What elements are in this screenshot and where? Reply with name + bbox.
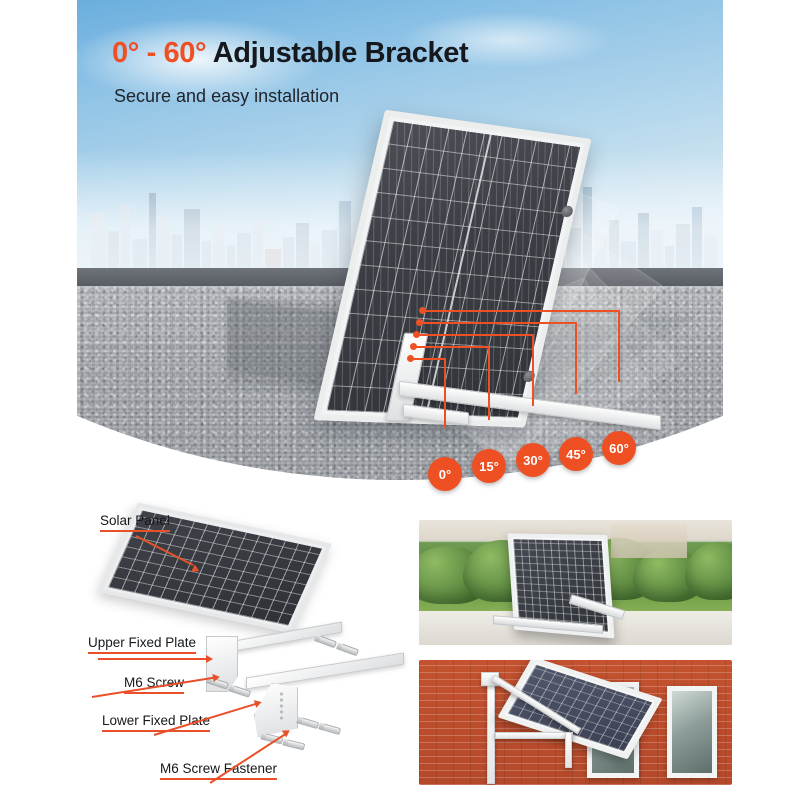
support-rail — [246, 652, 404, 689]
angle-badge-2: 30° — [516, 443, 550, 477]
panel-bolt-top — [560, 205, 574, 218]
wall-mount-vertical-post — [487, 676, 495, 784]
angle-badge-label: 0° — [439, 467, 451, 482]
angle-badge-label: 60° — [609, 441, 629, 456]
wall-mount-support-leg — [565, 732, 572, 768]
hero-image — [77, 0, 723, 500]
screw-8 — [285, 739, 305, 750]
angle-badge-0: 0° — [428, 457, 462, 491]
screw-5 — [299, 717, 319, 729]
angle-badge-1: 15° — [472, 449, 506, 483]
angle-badge-label: 30° — [523, 453, 543, 468]
screw-2 — [339, 643, 359, 656]
window-right — [667, 686, 717, 778]
page-subtitle: Secure and easy installation — [114, 86, 339, 107]
angle-badge-label: 15° — [479, 459, 499, 474]
label-text: M6 Screw Fastener — [160, 761, 277, 776]
page-title: 0° - 60° Adjustable Bracket — [112, 37, 468, 70]
title-accent: 0° - 60° — [112, 37, 206, 69]
label-upper-fixed-plate: Upper Fixed Plate — [88, 635, 196, 654]
label-solar-panel: Solar Panel — [100, 513, 170, 532]
screw-1 — [317, 635, 337, 648]
angle-badge-3: 45° — [559, 437, 593, 471]
exploded-parts-diagram: Solar Panel Upper Fixed Plate M6 Screw L… — [78, 505, 398, 795]
angle-badge-label: 45° — [566, 447, 586, 462]
screw-6 — [321, 723, 341, 735]
hero-photo-clip — [77, 0, 723, 500]
blurred-house — [611, 524, 687, 558]
photo-garden-install — [419, 520, 732, 645]
title-rest: Adjustable Bracket — [206, 37, 468, 69]
label-text: Solar Panel — [100, 513, 170, 528]
wall-mount-horizontal-arm — [495, 732, 573, 739]
photo-brick-wall-install — [419, 660, 732, 785]
label-text: Upper Fixed Plate — [88, 635, 196, 650]
adjustment-holes — [275, 691, 288, 721]
angle-badge-4: 60° — [602, 431, 636, 465]
infographic-page: 0° 15° 30° 45° 60° 0° - 60° Adjustable B… — [0, 0, 800, 800]
